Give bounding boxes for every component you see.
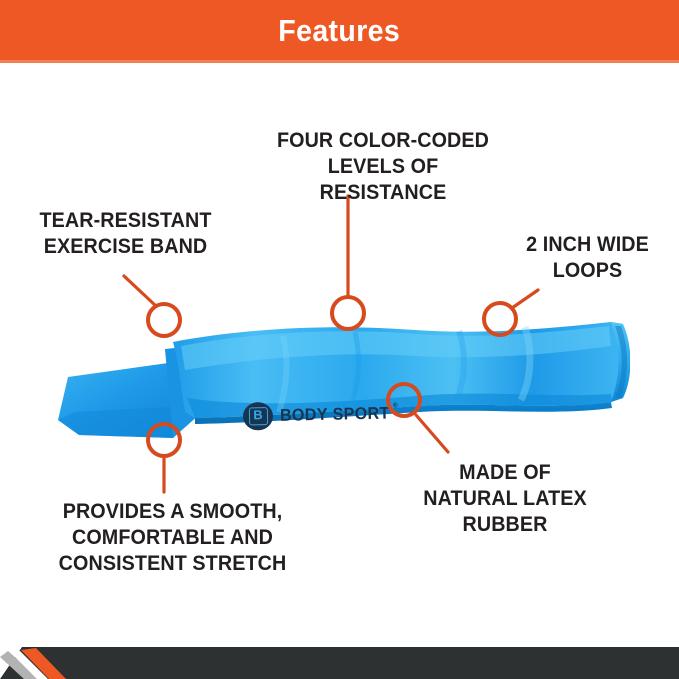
registered-trademark-icon: ®	[393, 402, 398, 409]
callout-label-two-inch-wide-loops: 2 INCH WIDE LOOPS	[510, 232, 665, 284]
wordmark-sport: SPORT	[332, 404, 389, 424]
badge-letter: B	[248, 407, 267, 425]
wordmark-body: BODY	[280, 405, 328, 425]
callout-label-made-of-natural-latex-rubber: MADE OF NATURAL LATEX RUBBER	[402, 460, 609, 538]
resistance-band-image	[55, 302, 630, 452]
body-sport-logo: B BODY SPORT ®	[243, 399, 396, 430]
callout-label-four-color-coded: FOUR COLOR-CODED LEVELS OF RESISTANCE	[266, 128, 501, 206]
footer-bar	[0, 641, 679, 679]
body-sport-badge-icon: B	[243, 402, 274, 431]
footer-dark-bar	[0, 647, 679, 679]
callout-label-tear-resistant: TEAR-RESISTANT EXERCISE BAND	[24, 208, 226, 260]
infographic-page: Features	[0, 0, 679, 679]
body-sport-wordmark: BODY SPORT ®	[280, 404, 390, 426]
header-banner: Features	[0, 0, 679, 60]
callout-label-provides-smooth-stretch: PROVIDES A SMOOTH, COMFORTABLE AND CONSI…	[39, 499, 307, 577]
page-title: Features	[279, 15, 401, 46]
